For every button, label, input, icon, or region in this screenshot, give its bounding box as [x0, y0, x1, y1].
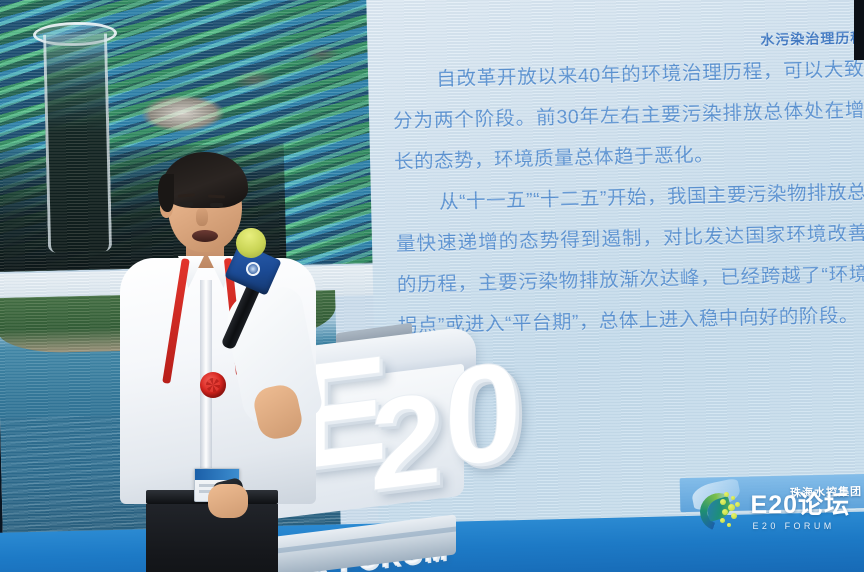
e20-logo-main-text: E20论坛: [751, 493, 850, 518]
water-sample-cup-icon: [33, 21, 123, 272]
slide-paragraph-1: 自改革开放以来40年的环境治理历程，可以大致分为两个阶段。前30年左右主要污染排…: [392, 49, 864, 183]
podium-letter-2: 2: [370, 382, 442, 503]
scene-right-edge: [854, 0, 864, 60]
speaker-left-hand: [208, 484, 248, 518]
handheld-microphone: [224, 228, 284, 356]
e20-forum-logo: E20论坛 E20 FORUM: [700, 490, 850, 534]
broadcaster-logo-icon: [244, 260, 262, 278]
speaker-eye-right: [210, 203, 223, 207]
speaker-eye-left: [180, 202, 193, 206]
speaker-mouth: [192, 230, 218, 242]
bubble-dots-icon: [718, 492, 744, 532]
slide-title: 水污染治理历程: [760, 27, 864, 49]
speaker-red-corsage: [200, 372, 226, 398]
podium-e20-letters: E 2 0: [292, 344, 522, 534]
e20-leaf-droplet-icon: [700, 490, 744, 534]
speaker-figure: [116, 150, 326, 572]
podium-letter-0: 0: [444, 349, 522, 479]
speaker-nose: [196, 208, 208, 226]
conference-photo-scene: 水污染治理历程 自改革开放以来40年的环境治理历程，可以大致分为两个阶段。前30…: [0, 0, 864, 572]
slide-body: 自改革开放以来40年的环境治理历程，可以大致分为两个阶段。前30年左右主要污染排…: [392, 49, 864, 347]
speaker-hair: [162, 152, 248, 208]
e20-logo-sub-text: E20 FORUM: [753, 522, 850, 531]
slide-paragraph-2: 从“十一五”“十二五”开始，我国主要污染物排放总量快速递增的态势得到遏制，对比发…: [395, 172, 864, 347]
